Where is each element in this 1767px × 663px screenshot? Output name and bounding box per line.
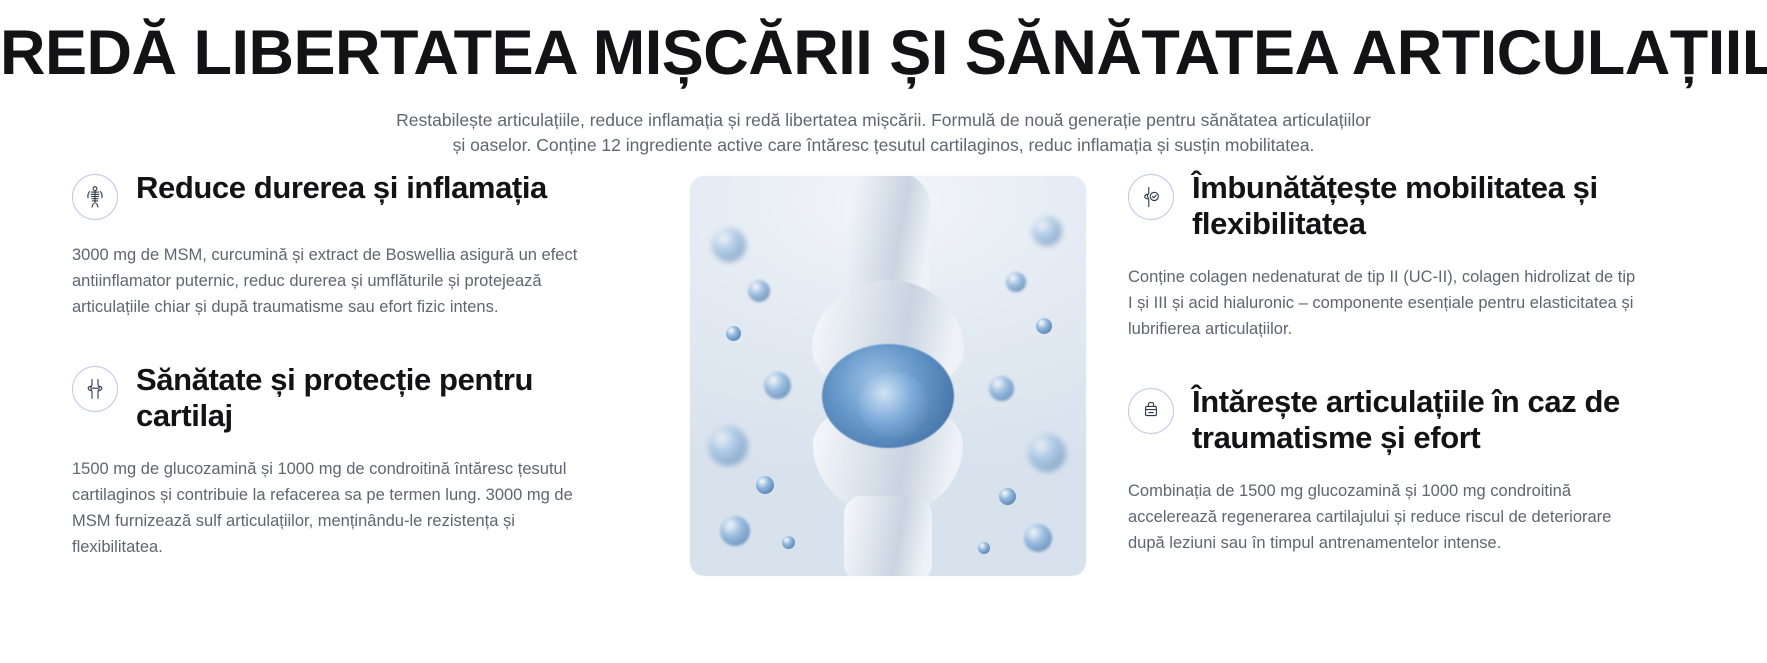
joint-3d-render-image [690, 176, 1086, 576]
bone-strength-icon [1128, 388, 1174, 434]
subtitle-line-1: Restabilește articulațiile, reduce infla… [364, 108, 1404, 133]
features-column-left: Reduce durerea și inflamația 3000 mg de … [72, 168, 662, 560]
page-title: REDĂ LIBERTATEA MIȘCĂRII ȘI SĂNĂTATEA AR… [0, 0, 1767, 86]
feature-strengthen-joints: Întărește articulațiile în caz de trauma… [1128, 382, 1704, 556]
feature-header: Îmbunătățește mobilitatea și flexibilita… [1128, 168, 1704, 242]
features-column-right: Îmbunătățește mobilitatea și flexibilita… [1114, 168, 1704, 556]
feature-title: Îmbunătățește mobilitatea și flexibilita… [1192, 168, 1692, 242]
feature-header: Sănătate și protecție pentru cartilaj [72, 360, 648, 434]
feature-body: 3000 mg de MSM, curcumină și extract de … [72, 242, 587, 320]
subtitle-line-2: și oaselor. Conține 12 ingrediente activ… [364, 133, 1404, 158]
feature-reduce-pain: Reduce durerea și inflamația 3000 mg de … [72, 168, 648, 320]
landing-section: REDĂ LIBERTATEA MIȘCĂRII ȘI SĂNĂTATEA AR… [0, 0, 1767, 663]
feature-title: Reduce durerea și inflamația [136, 168, 547, 206]
features-columns: Reduce durerea și inflamația 3000 mg de … [0, 168, 1767, 576]
feature-body: Combinația de 1500 mg glucozamină și 100… [1128, 478, 1643, 556]
page-subtitle: Restabilește articulațiile, reduce infla… [364, 108, 1404, 158]
spine-body-icon [72, 174, 118, 220]
feature-title: Întărește articulațiile în caz de trauma… [1192, 382, 1692, 456]
feature-improve-mobility: Îmbunătățește mobilitatea și flexibilita… [1128, 168, 1704, 342]
cartilage-shield-icon [72, 366, 118, 412]
feature-cartilage-health: Sănătate și protecție pentru cartilaj 15… [72, 360, 648, 560]
hero-image-column [662, 168, 1114, 576]
feature-body: Conține colagen nedenaturat de tip II (U… [1128, 264, 1643, 342]
knee-joint-check-icon [1128, 174, 1174, 220]
feature-header: Întărește articulațiile în caz de trauma… [1128, 382, 1704, 456]
feature-header: Reduce durerea și inflamația [72, 168, 648, 220]
feature-body: 1500 mg de glucozamină și 1000 mg de con… [72, 456, 587, 560]
feature-title: Sănătate și protecție pentru cartilaj [136, 360, 636, 434]
